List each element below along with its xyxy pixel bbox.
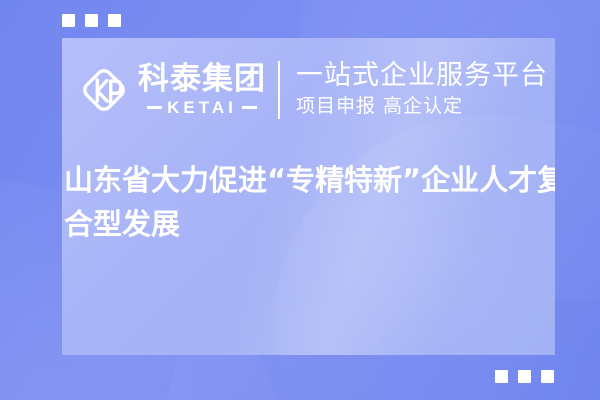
- square-dot-icon: [495, 370, 508, 383]
- square-dot-icon: [541, 370, 554, 383]
- square-dot-icon: [62, 14, 75, 27]
- brand-lockup: 科泰集团 KETAI: [76, 62, 266, 118]
- brand-name-en-row: KETAI: [147, 99, 257, 116]
- dash-right-icon: [242, 106, 257, 109]
- decorative-dots-bottom-right: [495, 370, 554, 383]
- dash-left-icon: [147, 106, 162, 109]
- vertical-divider: [278, 61, 280, 119]
- brand-name-en: KETAI: [162, 99, 242, 116]
- content-panel: 科泰集团 KETAI 一站式企业服务平台 项目申报 高企认定 山东省大力促进“专…: [62, 38, 555, 355]
- tagline-main: 一站式企业服务平台: [296, 61, 548, 91]
- promo-banner: 科泰集团 KETAI 一站式企业服务平台 项目申报 高企认定 山东省大力促进“专…: [0, 0, 600, 400]
- square-dot-icon: [108, 14, 121, 27]
- tagline-block: 一站式企业服务平台 项目申报 高企认定: [296, 61, 548, 119]
- headline-title: 山东省大力促进“专精特新”企业人才复合型发展: [62, 158, 555, 246]
- square-dot-icon: [85, 14, 98, 27]
- panel-header: 科泰集团 KETAI 一站式企业服务平台 项目申报 高企认定: [62, 38, 555, 142]
- ketai-kp-monogram-icon: [76, 62, 132, 118]
- brand-text: 科泰集团 KETAI: [138, 64, 266, 116]
- tagline-sub: 项目申报 高企认定: [296, 95, 548, 119]
- brand-name-cn: 科泰集团: [138, 64, 266, 95]
- decorative-dots-top-left: [62, 14, 121, 27]
- square-dot-icon: [518, 370, 531, 383]
